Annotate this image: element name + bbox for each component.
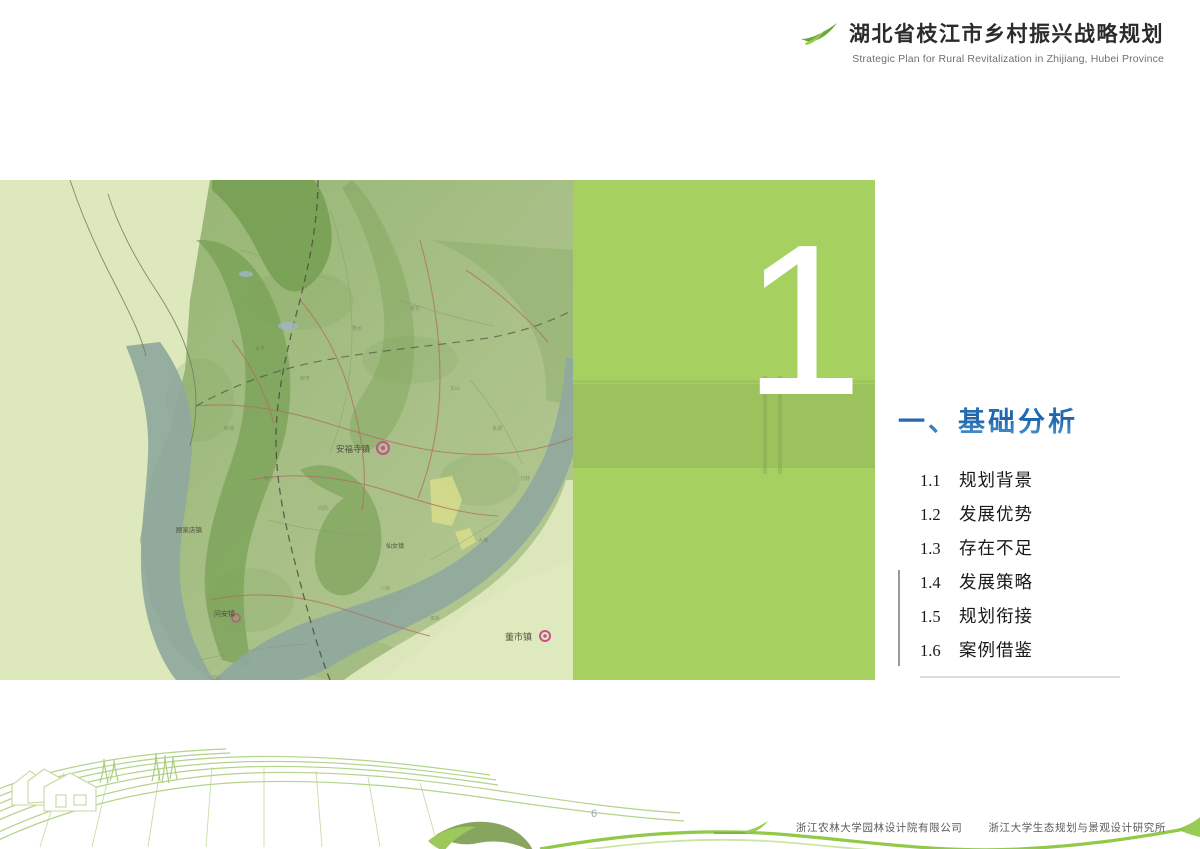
map-label: 仙女镇	[386, 542, 404, 550]
svg-text:向阳: 向阳	[318, 505, 328, 512]
map-label: 问安镇	[214, 609, 235, 618]
toc-number: 1.4	[920, 573, 946, 593]
toc-bottom-rule	[920, 676, 1120, 678]
toc-label: 存在不足	[959, 535, 1033, 560]
toc-label: 发展优势	[959, 501, 1033, 526]
chapter-number-watermark: 1	[743, 212, 857, 427]
page-number: 6	[591, 808, 597, 820]
svg-text:大埠: 大埠	[478, 537, 488, 544]
toc-item-1-5[interactable]: 1.5 规划衔接	[920, 603, 1178, 628]
toc-item-1-6[interactable]: 1.6 案例借鉴	[920, 637, 1178, 662]
map-label: 董市镇	[505, 631, 532, 643]
toc-item-1-4[interactable]: 1.4 发展策略	[920, 569, 1178, 594]
tree-illustration	[100, 753, 177, 783]
toc-label: 规划衔接	[959, 603, 1033, 628]
toc-label: 案例借鉴	[959, 637, 1033, 662]
chapter-contents: 一、基础分析 1.1 规划背景 1.2 发展优势 1.3 存在不足 1.4 发展…	[898, 400, 1178, 678]
leaf-swoosh-icon	[428, 822, 534, 849]
toc-item-1-3[interactable]: 1.3 存在不足	[920, 535, 1178, 560]
svg-text:石子: 石子	[264, 475, 274, 482]
svg-text:金湖: 金湖	[492, 425, 502, 432]
toc-number: 1.2	[920, 505, 946, 525]
flow-curve-secondary	[548, 840, 1022, 849]
page-footer: 浙江农林大学园林设计院有限公司 浙江大学生态规划与景观设计研究所	[714, 820, 1166, 835]
toc-number: 1.3	[920, 539, 946, 559]
page-header: 湖北省枝江市乡村振兴战略规划 Strategic Plan for Rural …	[744, 18, 1164, 65]
flow-curve-leaf-tip	[1178, 817, 1200, 837]
toc-accent-line	[898, 570, 900, 666]
toc-number: 1.1	[920, 471, 946, 491]
footer-org-left: 浙江农林大学园林设计院有限公司	[796, 820, 963, 835]
svg-text:太平: 太平	[255, 345, 265, 352]
toc-item-1-2[interactable]: 1.2 发展优势	[920, 501, 1178, 526]
chapter-green-panel: 1	[573, 180, 875, 680]
toc-label: 规划背景	[959, 467, 1033, 492]
toc-item-1-1[interactable]: 1.1 规划背景	[920, 467, 1178, 492]
toc-number: 1.6	[920, 641, 946, 661]
house-illustration	[12, 769, 96, 811]
svg-text:东山: 东山	[450, 385, 460, 392]
svg-text:秀水: 秀水	[352, 325, 362, 332]
hero-band: 安福寺镇 董市镇 问安镇 马家店街道 顾家店镇 白洋镇 七星台镇 仙女镇 太平双…	[0, 180, 875, 680]
terrace-vertical-lines	[40, 767, 438, 847]
header-brand-row: 湖北省枝江市乡村振兴战略规划	[744, 18, 1164, 48]
map-label: 顾家店镇	[176, 525, 203, 534]
svg-text:桃花: 桃花	[410, 305, 420, 312]
svg-text:刘巷: 刘巷	[520, 475, 530, 482]
header-title-cn: 湖北省枝江市乡村振兴战略规划	[849, 18, 1164, 48]
header-title-en: Strategic Plan for Rural Revitalization …	[744, 53, 1164, 65]
svg-text:同心: 同心	[212, 675, 222, 680]
map-label: 安福寺镇	[336, 444, 371, 455]
footer-org-right: 浙江大学生态规划与景观设计研究所	[988, 820, 1166, 835]
svg-text:革新: 革新	[430, 615, 440, 622]
rural-fields-illustration	[0, 749, 684, 849]
page-title: 一、基础分析	[898, 400, 1178, 439]
svg-text:双丰: 双丰	[300, 375, 310, 382]
footer-leaf-icon	[714, 821, 770, 835]
svg-text:八柳: 八柳	[380, 585, 390, 592]
leaf-swoosh-icon	[799, 20, 839, 46]
toc-label: 发展策略	[959, 569, 1033, 594]
map-graphic: 安福寺镇 董市镇 问安镇 马家店街道 顾家店镇 白洋镇 七星台镇 仙女镇 太平双…	[0, 180, 573, 680]
svg-text:新场: 新场	[224, 425, 234, 432]
toc-number: 1.5	[920, 607, 946, 627]
region-map: 安福寺镇 董市镇 问安镇 马家店街道 顾家店镇 白洋镇 七星台镇 仙女镇 太平双…	[0, 180, 573, 680]
toc-list: 1.1 规划背景 1.2 发展优势 1.3 存在不足 1.4 发展策略 1.5 …	[898, 467, 1178, 662]
